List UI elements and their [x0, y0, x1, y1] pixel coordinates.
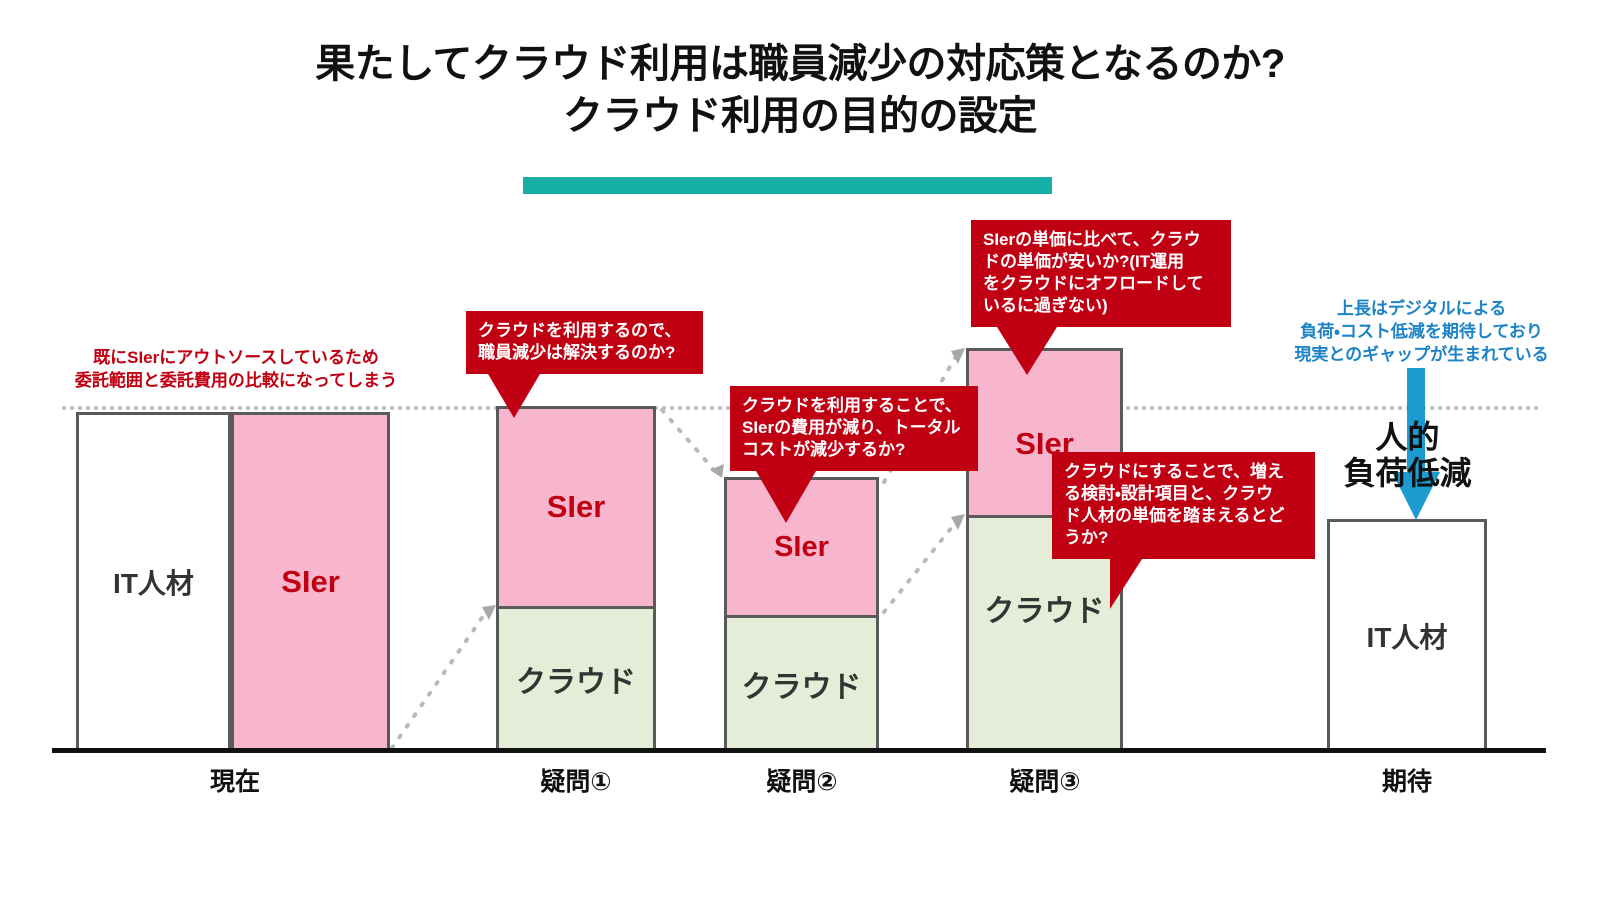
callout-tail-icon [997, 327, 1057, 375]
callout-tail-icon [488, 374, 540, 418]
bar-segment-label: SIer [281, 564, 340, 600]
annotation-line: 既にSIerにアウトソースしているため [36, 347, 436, 370]
x-axis-label-expected: 期待 [1312, 762, 1502, 798]
bar-segment-cloud: クラウド [727, 615, 876, 749]
callout-question4[interactable]: クラウドにすることで、増え る検討・設計項目と、クラウ ド人材の単価を踏まえると… [1052, 452, 1315, 559]
callout-line: コストが減少するか? [742, 439, 966, 461]
callout-question2[interactable]: クラウドを利用することで、 SIerの費用が減り、トータル コストが減少するか? [730, 386, 978, 471]
bar-expected-it-staff[interactable]: IT人材 [1327, 519, 1487, 752]
x-axis-label-current: 現在 [140, 762, 330, 798]
connector-q2-to-q3 [884, 514, 965, 612]
callout-line: る検討・設計項目と、クラウ [1064, 483, 1303, 505]
annotation-current-outsourcing: 既にSIerにアウトソースしているため 委託範囲と委託費用の比較になってしまう [36, 347, 436, 393]
callout-line: ドの単価が安いか?(IT運用 [983, 251, 1219, 273]
callout-line: 職員減少は解決するのか? [478, 342, 691, 364]
bar-segment-label: クラウド [516, 657, 636, 701]
annotation-line: 上長はデジタルによる [1243, 298, 1600, 321]
bar-segment-it-staff: IT人材 [1330, 522, 1484, 749]
bar-segment-label: クラウド [742, 662, 862, 706]
annotation-management-expectation: 上長はデジタルによる 負荷・コスト低減を期待しており 現実とのギャップが生まれて… [1243, 298, 1600, 367]
bar-segment-label: SIer [774, 531, 829, 564]
bar-segment-sier: SIer [234, 415, 387, 749]
arrow-label-workload-reduction: 人的 負荷低減 [1315, 420, 1500, 492]
annotation-line: 負荷・コスト低減を期待しており [1243, 321, 1600, 344]
bar-segment-it-staff: IT人材 [79, 415, 228, 749]
x-axis-label-question3: 疑問③ [950, 762, 1140, 798]
x-axis-label-question2: 疑問② [707, 762, 897, 798]
callout-line: をクラウドにオフロードして [983, 273, 1219, 295]
callout-tail-icon [756, 471, 816, 523]
callout-line: クラウドを利用することで、 [742, 395, 966, 417]
bar-segment-label: クラウド [985, 586, 1105, 630]
callout-line: SIerの費用が減り、トータル [742, 417, 966, 439]
bar-segment-sier: SIer [499, 409, 653, 606]
bar-segment-cloud: クラウド [499, 606, 653, 749]
annotation-line: 現実とのギャップが生まれている [1243, 344, 1600, 367]
connector-now-to-q1 [392, 605, 496, 748]
bar-segment-label: IT人材 [1367, 616, 1448, 656]
slide-canvas: 果たしてクラウド利用は職員減少の対応策となるのか? クラウド利用の目的の設定 [0, 0, 1600, 900]
arrow-label-line1: 人的 [1315, 420, 1500, 456]
callout-tail-icon [1110, 559, 1142, 609]
callout-line: クラウドにすることで、増え [1064, 461, 1303, 483]
callout-line: うか? [1064, 527, 1303, 549]
bar-current-it-staff[interactable]: IT人材 [76, 412, 231, 752]
x-axis-label-question1: 疑問① [481, 762, 671, 798]
callout-line: クラウドを利用するので、 [478, 320, 691, 342]
callout-question1[interactable]: クラウドを利用するので、 職員減少は解決するのか? [466, 311, 703, 374]
callout-question3[interactable]: SIerの単価に比べて、クラウ ドの単価が安いか?(IT運用 をクラウドにオフロ… [971, 220, 1231, 327]
callout-line: ド人材の単価を踏まえるとど [1064, 505, 1303, 527]
callout-line: SIerの単価に比べて、クラウ [983, 229, 1219, 251]
x-axis-line [52, 748, 1546, 753]
callout-line: いるに過ぎない) [983, 295, 1219, 317]
connector-q1-to-q2 [662, 410, 724, 478]
annotation-line: 委託範囲と委託費用の比較になってしまう [36, 370, 436, 393]
bar-current-sier[interactable]: SIer [231, 412, 390, 752]
bar-question1[interactable]: SIer クラウド [496, 406, 656, 752]
bar-segment-label: SIer [547, 489, 606, 525]
bar-segment-label: IT人材 [113, 562, 194, 602]
arrow-label-line2: 負荷低減 [1315, 456, 1500, 492]
